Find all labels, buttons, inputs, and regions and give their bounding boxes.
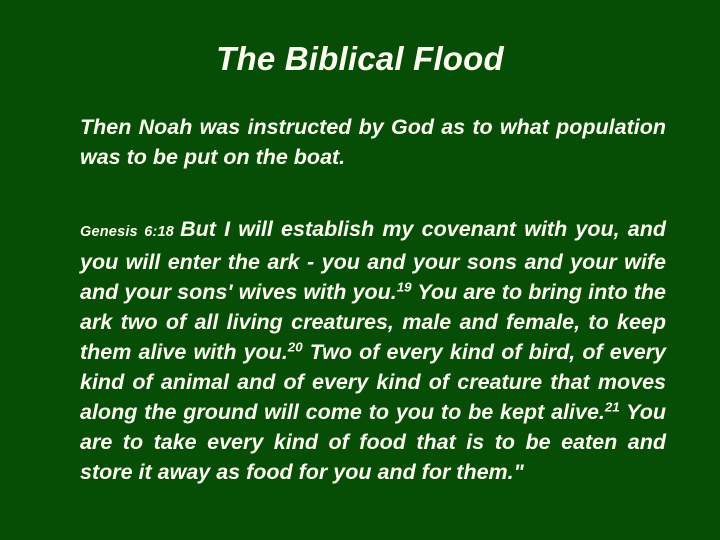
verse-20-marker: 20 <box>288 340 303 355</box>
paragraph-spacer <box>80 172 666 214</box>
page-title: The Biblical Flood <box>0 40 720 78</box>
verse-19-marker: 19 <box>397 280 412 295</box>
intro-paragraph: Then Noah was instructed by God as to wh… <box>80 112 666 172</box>
verse-21-marker: 21 <box>605 400 620 415</box>
slide-body: Then Noah was instructed by God as to wh… <box>80 112 666 487</box>
scripture-reference: Genesis 6:18 <box>80 224 174 240</box>
scripture-paragraph: Genesis 6:18But I will establish my cove… <box>80 214 666 487</box>
presentation-slide: The Biblical Flood Then Noah was instruc… <box>0 0 720 540</box>
